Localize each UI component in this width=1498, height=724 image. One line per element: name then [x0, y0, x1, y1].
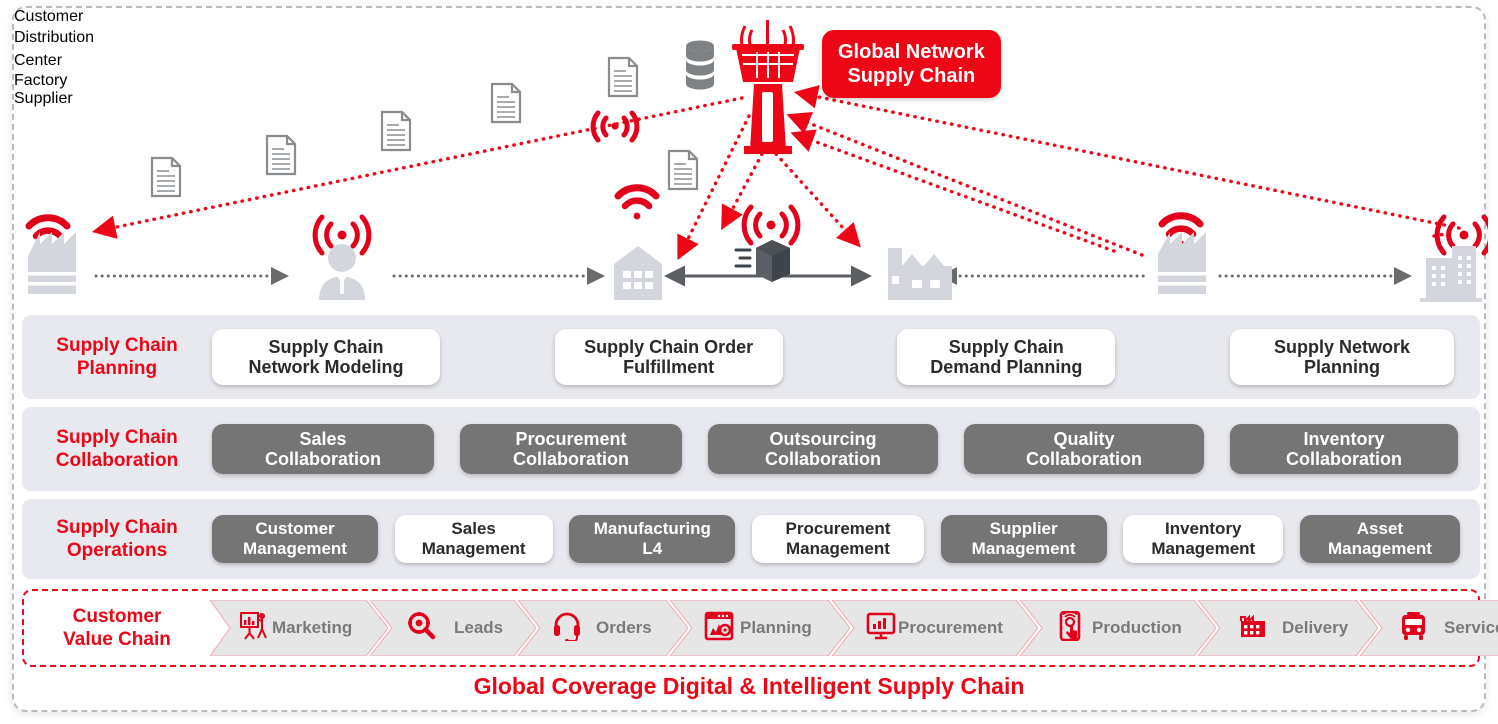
step-label: Orders — [596, 618, 652, 638]
hub-badge: Global Network Supply Chain — [822, 30, 1001, 98]
collab-label-line1: Supply Chain — [22, 426, 212, 449]
bar-chart-monitor-icon — [866, 611, 896, 646]
headset-icon — [552, 611, 582, 646]
gear-window-icon — [704, 611, 734, 646]
chevron-shape — [370, 600, 536, 656]
ops-label-line2: Operations — [22, 539, 212, 562]
value-chain-steps: Marketing Leads — [210, 591, 1478, 665]
row-supply-chain-operations: Supply Chain Operations Customer Managem… — [22, 499, 1480, 579]
step-label: Delivery — [1282, 618, 1348, 638]
database-stack-icon — [686, 41, 714, 90]
value-chain-step-orders[interactable]: Orders — [518, 600, 688, 656]
chip-asset-management[interactable]: Asset Management — [1300, 515, 1460, 563]
mobile-touch-icon — [1056, 611, 1086, 646]
wifi-icon — [618, 188, 656, 220]
vc-label-line1: Customer — [24, 605, 210, 628]
factory-plant-icon — [888, 248, 952, 300]
value-chain-label: Customer Value Chain — [24, 605, 210, 651]
operations-cells: Customer Management Sales Management Man… — [212, 499, 1480, 579]
presentation-board-icon — [240, 611, 270, 646]
step-label: Production — [1092, 618, 1182, 638]
chip-procurement-management[interactable]: Procurement Management — [752, 515, 924, 563]
planning-label-line1: Supply Chain — [22, 334, 212, 357]
office-building-icon — [1420, 246, 1482, 302]
magnifier-target-icon — [406, 611, 436, 646]
step-label: Marketing — [272, 618, 352, 638]
row-supply-chain-collaboration: Supply Chain Collaboration Sales Collabo… — [22, 407, 1480, 491]
chip-customer-management[interactable]: Customer Management — [212, 515, 378, 563]
collab-label-line2: Collaboration — [22, 449, 212, 472]
chip-supplier-management[interactable]: Supplier Management — [941, 515, 1107, 563]
network-scene: Global Network Supply Chain Customer Dis… — [14, 8, 1488, 314]
chip-quality-collaboration[interactable]: Quality Collaboration — [964, 424, 1204, 474]
collaboration-cells: Sales Collaboration Procurement Collabor… — [212, 407, 1480, 491]
value-chain-step-production[interactable]: Production — [1020, 600, 1216, 656]
chip-supply-chain-demand-planning[interactable]: Supply Chain Demand Planning — [897, 329, 1115, 385]
chip-supply-chain-network-modeling[interactable]: Supply Chain Network Modeling — [212, 329, 440, 385]
row-label-planning: Supply Chain Planning — [22, 334, 212, 380]
broadcast-icon — [593, 113, 637, 140]
step-label: Procurement — [898, 618, 1003, 638]
warehouse-icon — [614, 246, 662, 300]
value-chain-step-leads[interactable]: Leads — [370, 600, 536, 656]
chip-supply-chain-order-fulfillment[interactable]: Supply Chain Order Fulfillment — [555, 329, 783, 385]
chip-sales-collaboration[interactable]: Sales Collaboration — [212, 424, 434, 474]
chip-outsourcing-collaboration[interactable]: Outsourcing Collaboration — [708, 424, 938, 474]
diagram-card: Global Network Supply Chain Customer Dis… — [12, 6, 1486, 712]
chip-manufacturing-l4[interactable]: Manufacturing L4 — [569, 515, 735, 563]
chip-inventory-management[interactable]: Inventory Management — [1123, 515, 1283, 563]
chip-inventory-collaboration[interactable]: Inventory Collaboration — [1230, 424, 1458, 474]
factory-icon — [28, 232, 76, 294]
chip-supply-network-planning[interactable]: Supply Network Planning — [1230, 329, 1454, 385]
factory-building-icon — [1238, 611, 1268, 646]
ops-label-line1: Supply Chain — [22, 516, 212, 539]
footer-title: Global Coverage Digital & Intelligent Su… — [14, 673, 1484, 700]
row-supply-chain-planning: Supply Chain Planning Supply Chain Netwo… — [22, 315, 1480, 399]
value-chain-step-delivery[interactable]: Delivery — [1198, 600, 1378, 656]
row-label-operations: Supply Chain Operations — [22, 516, 212, 562]
value-chain-step-marketing[interactable]: Marketing — [210, 600, 388, 656]
planning-cells: Supply Chain Network Modeling Supply Cha… — [212, 315, 1480, 399]
factory-icon — [1158, 232, 1206, 294]
hub-badge-line1: Global Network — [838, 40, 985, 64]
customer-person-icon — [319, 244, 365, 300]
customer-value-chain: Customer Value Chain — [22, 589, 1480, 667]
chip-sales-management[interactable]: Sales Management — [395, 515, 553, 563]
value-chain-step-planning[interactable]: Planning — [670, 600, 850, 656]
diagram-canvas: Global Network Supply Chain Customer Dis… — [0, 0, 1498, 724]
step-label: Leads — [454, 618, 503, 638]
chip-procurement-collaboration[interactable]: Procurement Collaboration — [460, 424, 682, 474]
control-tower-icon — [732, 20, 804, 154]
step-label: Planning — [740, 618, 812, 638]
planning-label-line2: Planning — [22, 357, 212, 380]
vc-label-line2: Value Chain — [24, 628, 210, 651]
step-label: Services — [1444, 618, 1498, 638]
row-label-collaboration: Supply Chain Collaboration — [22, 426, 212, 472]
hub-badge-line2: Supply Chain — [838, 64, 985, 88]
value-chain-step-procurement[interactable]: Procurement — [832, 600, 1038, 656]
broadcast-icon — [744, 207, 798, 243]
network-graphics — [14, 8, 1488, 314]
value-chain-step-services[interactable]: Services — [1360, 600, 1498, 656]
bus-icon — [1398, 611, 1428, 646]
